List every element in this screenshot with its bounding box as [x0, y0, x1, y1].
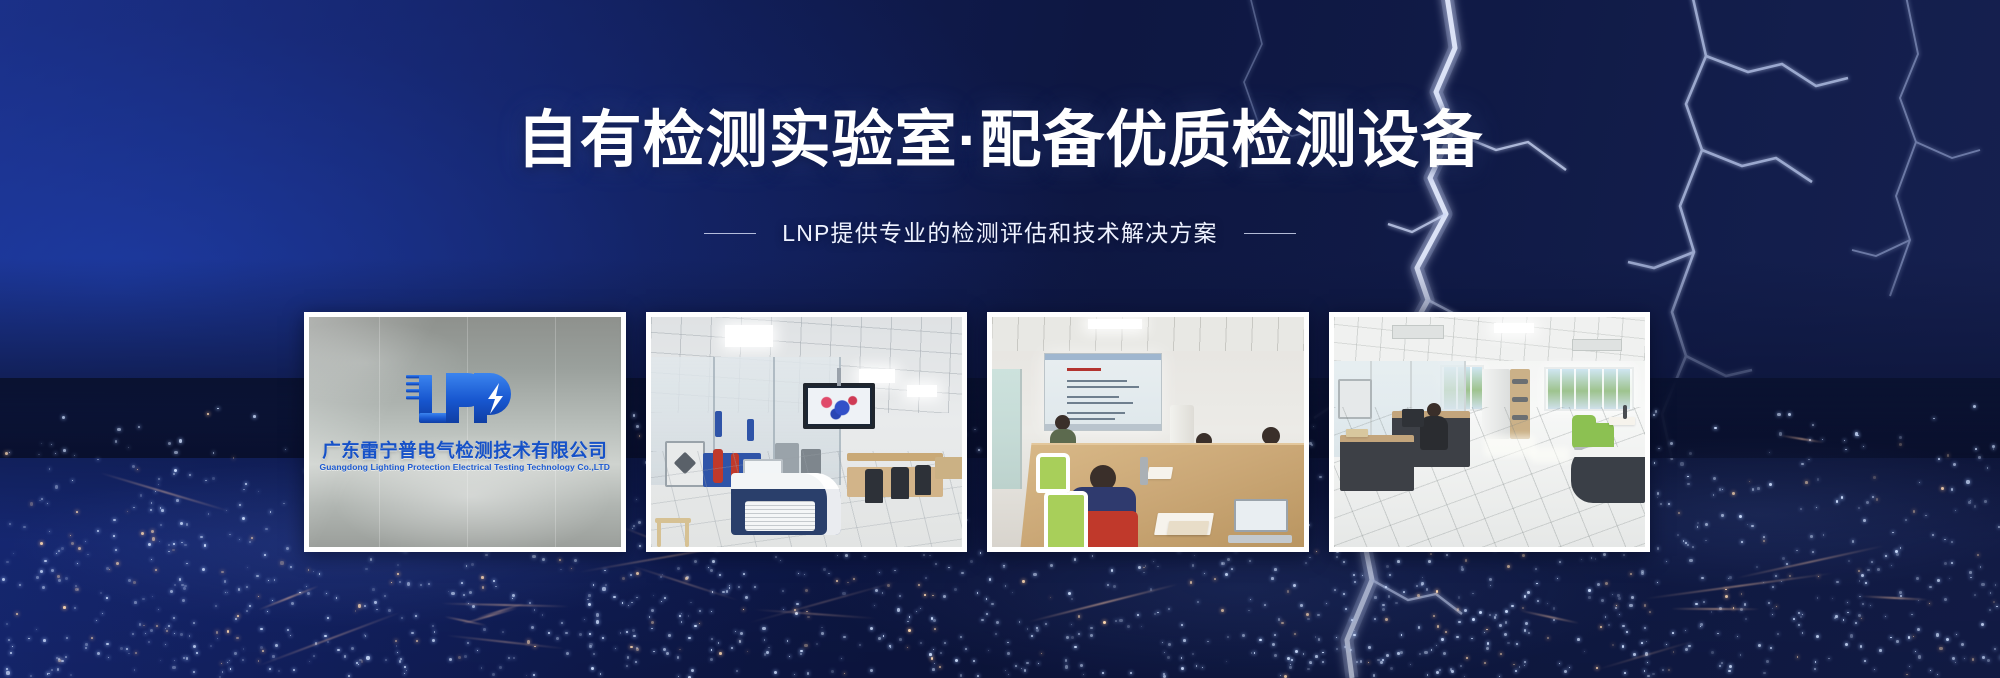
laptop: [1228, 499, 1292, 543]
photo-3-image: [992, 317, 1304, 547]
signage-company-name-cn: 广东雷宁普电气检测技术有限公司: [322, 437, 607, 463]
banner-subtitle-row: LNP提供专业的检测评估和技术解决方案: [0, 218, 2000, 248]
wall-monitor: [803, 383, 875, 429]
photo-2-image: [651, 317, 963, 547]
room-ceiling: [992, 317, 1304, 351]
gallery-photo-office[interactable]: 办公区: [1329, 312, 1651, 552]
rule-right-decoration: [1244, 233, 1296, 234]
photo-4-image: [1334, 317, 1646, 547]
hero-banner: 自有检测实验室·配备优质检测设备 LNP提供专业的检测评估和技术解决方案: [0, 0, 2000, 678]
photo-gallery-strip: 广东雷宁普电气检测技术有限公司 Guangdong Lighting Prote…: [304, 312, 1650, 552]
banner-subtitle: LNP提供专业的检测评估和技术解决方案: [782, 218, 1218, 248]
gallery-photo-laboratory[interactable]: 高压检测实验室: [646, 312, 968, 552]
gallery-photo-signage[interactable]: 广东雷宁普电气检测技术有限公司 Guangdong Lighting Prote…: [304, 312, 626, 552]
rule-left-decoration: [704, 233, 756, 234]
office-worker: [1420, 403, 1448, 453]
glass-door: [992, 369, 1022, 489]
lnp-logo-icon: [400, 369, 530, 435]
reception-counter: [1571, 447, 1645, 503]
signage-company-name-en: Guangdong Lighting Protection Electrical…: [319, 462, 610, 472]
gallery-photo-meeting-room[interactable]: 技术培训会议室: [987, 312, 1309, 552]
photo-1-image: 广东雷宁普电气检测技术有限公司 Guangdong Lighting Prote…: [309, 317, 621, 547]
control-console: [731, 473, 841, 535]
banner-title: 自有检测实验室·配备优质检测设备: [0, 110, 2000, 172]
side-desk: [1340, 435, 1414, 491]
